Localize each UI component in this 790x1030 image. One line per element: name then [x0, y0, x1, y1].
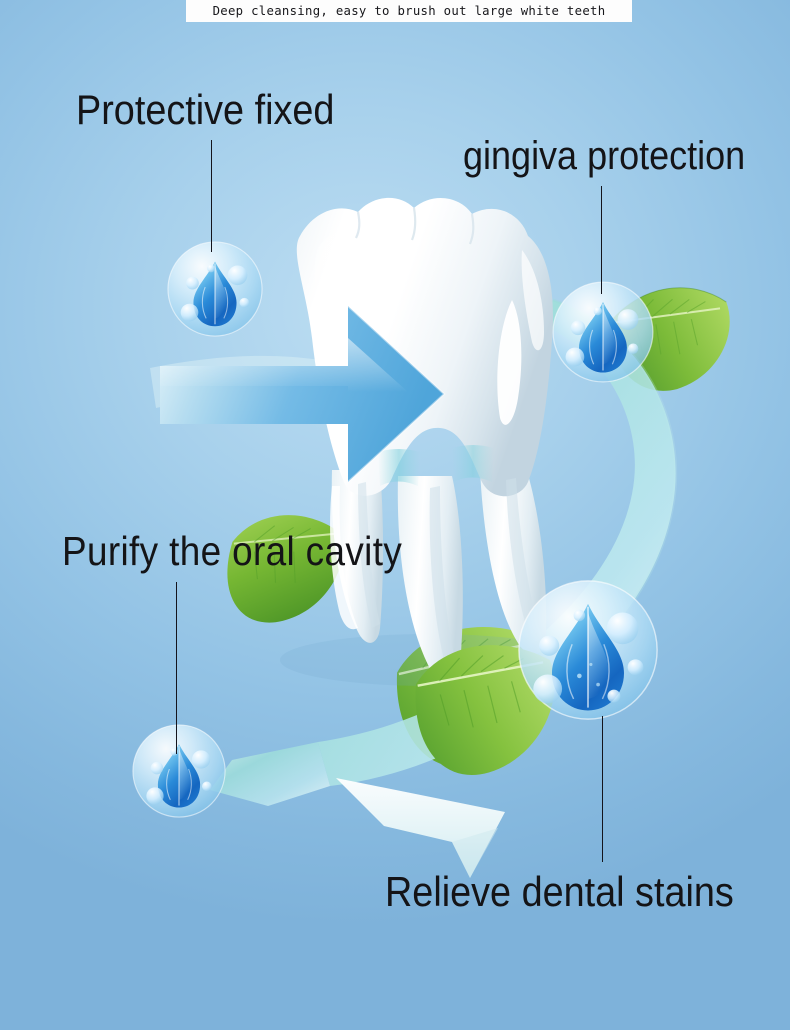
mini-bubble [618, 309, 639, 330]
mini-bubble [571, 321, 586, 336]
mini-bubble [186, 277, 199, 290]
product-infographic-poster: Protective fixed gingiva protection Puri… [0, 0, 790, 1030]
mini-bubble [181, 304, 199, 322]
caption-text: Deep cleansing, easy to brush out large … [213, 4, 606, 18]
feature-label-purify-oral-cavity: Purify the oral cavity [62, 528, 402, 575]
mini-bubble [607, 690, 620, 703]
mini-bubble [151, 762, 163, 774]
droplet-bubble-gingiva [551, 280, 655, 384]
leader-line-relieve [602, 716, 603, 862]
mini-bubble [207, 265, 215, 273]
feature-label-relieve-dental-stains: Relieve dental stains [385, 868, 734, 916]
mini-bubble [628, 343, 638, 353]
mini-bubble [240, 298, 250, 308]
mini-bubble [607, 613, 639, 645]
mini-bubble [574, 610, 586, 622]
mini-bubble [146, 787, 163, 804]
mini-bubble [566, 348, 585, 367]
feature-label-protective-fixed: Protective fixed [76, 86, 334, 134]
leader-line-protective [211, 140, 212, 252]
feature-label-gingiva-protection: gingiva protection [463, 134, 745, 179]
caption-box: Deep cleansing, easy to brush out large … [186, 0, 632, 22]
mini-bubble [192, 750, 210, 768]
mini-bubble [628, 659, 644, 675]
caption-bar: Deep cleansing, easy to brush out large … [0, 0, 790, 23]
mini-bubble [594, 307, 602, 315]
mini-bubble [228, 265, 248, 285]
mini-bubble [539, 636, 559, 656]
mini-bubble [533, 674, 562, 703]
mini-bubble [202, 782, 212, 792]
droplet-bubble-relieve [516, 578, 660, 722]
leader-line-purify [176, 582, 177, 754]
droplet-bubble-protective [166, 240, 264, 338]
leader-line-gingiva [601, 186, 602, 294]
droplet-bubble-purify [131, 723, 227, 819]
